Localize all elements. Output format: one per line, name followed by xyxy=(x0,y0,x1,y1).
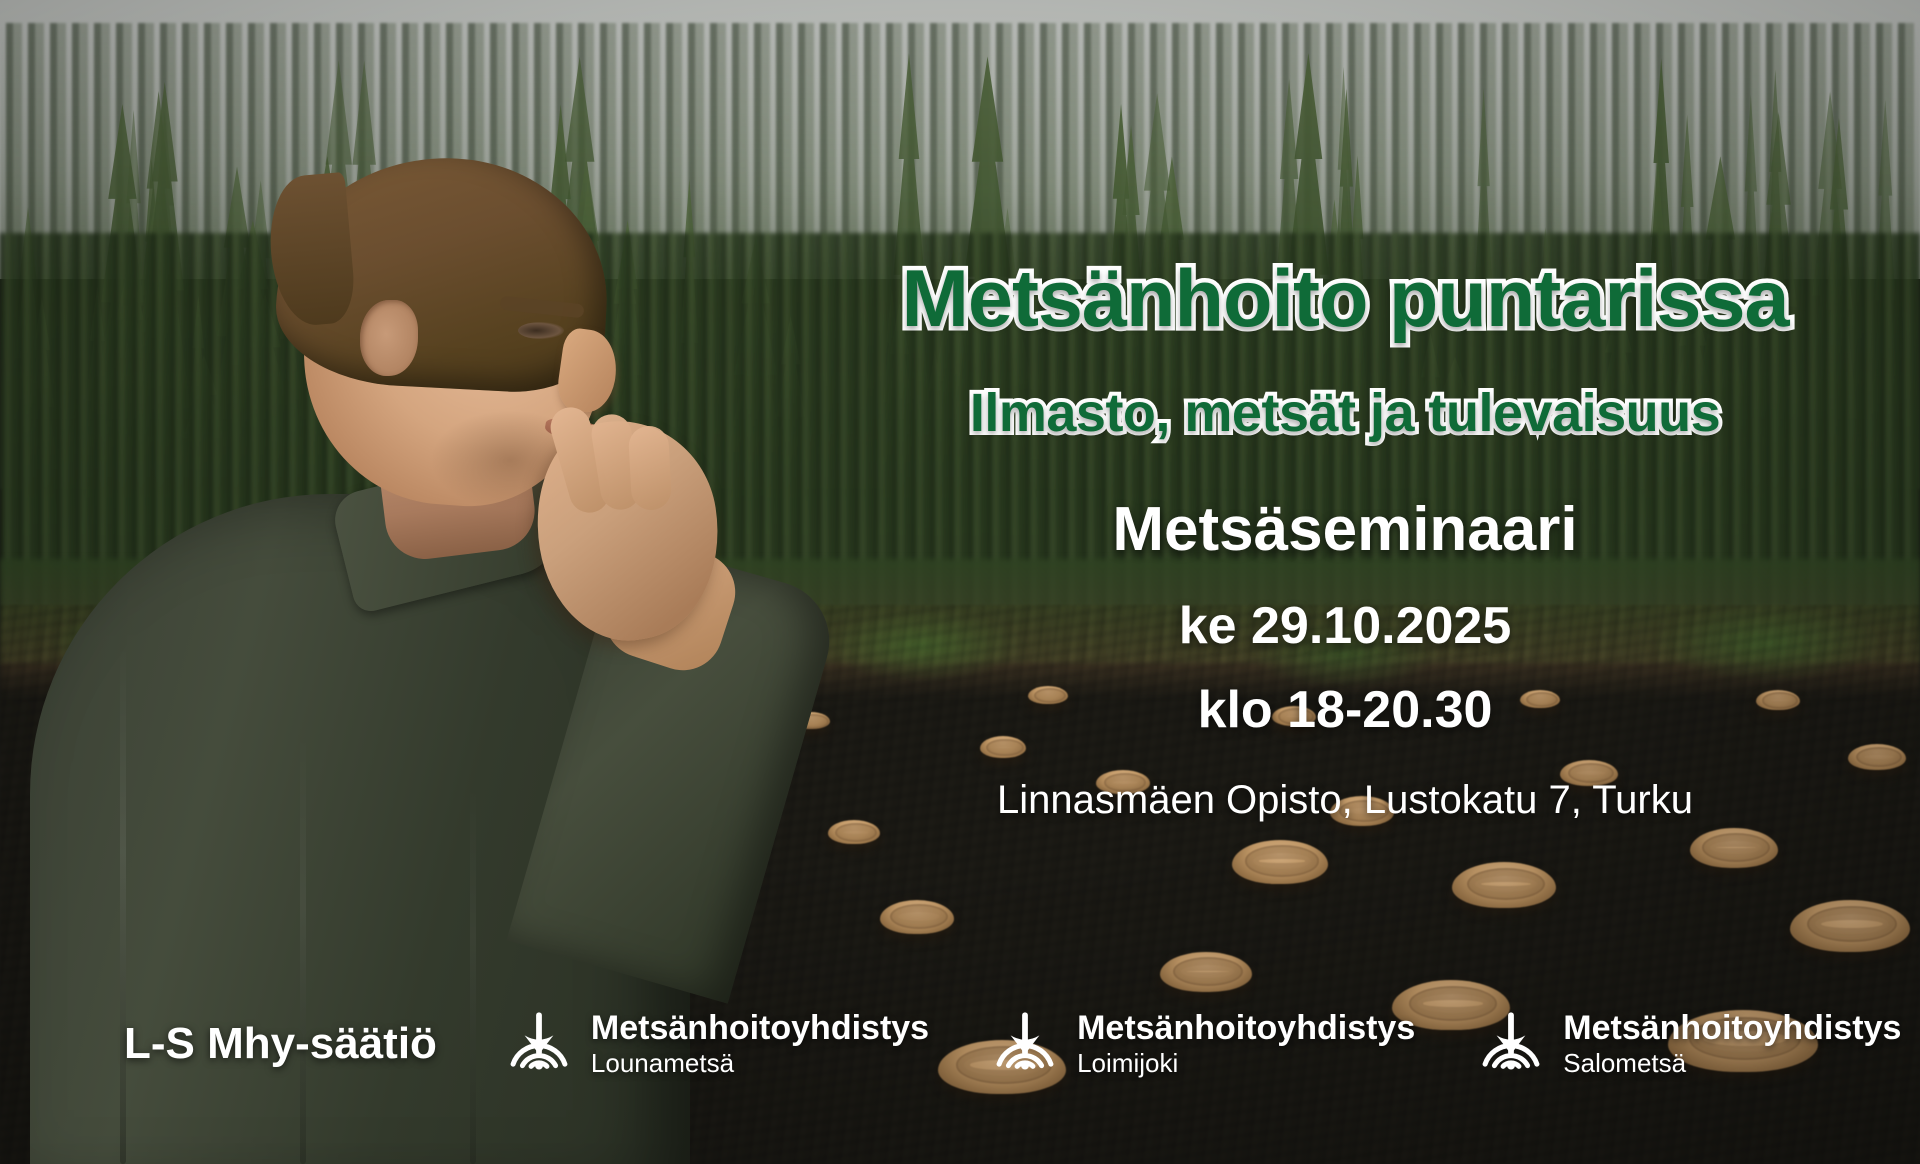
event-poster: Metsänhoito puntarissa Ilmasto, metsät j… xyxy=(0,0,1920,1164)
event-date: ke 29.10.2025 xyxy=(770,596,1920,656)
poster-headline: Metsänhoito puntarissa xyxy=(770,258,1920,341)
logo-lounametsa: Metsänhoitoyhdistys Lounametsä xyxy=(503,1008,929,1080)
poster-subheadline: Ilmasto, metsät ja tulevaisuus xyxy=(770,382,1920,444)
mhy-target-arrow-icon xyxy=(503,1008,575,1080)
mhy-target-arrow-icon xyxy=(989,1008,1061,1080)
event-time: klo 18-20.30 xyxy=(770,680,1920,740)
event-venue: Linnasmäen Opisto, Lustokatu 7, Turku xyxy=(770,778,1920,823)
footer-logo-bar: L-S Mhy-säätiö Metsänhoitoyhdistys Louna… xyxy=(0,984,1920,1164)
logo-salometsa: Metsänhoitoyhdistys Salometsä xyxy=(1475,1008,1901,1080)
foundation-name: L-S Mhy-säätiö xyxy=(124,1019,437,1069)
logo-org-name: Metsänhoitoyhdistys xyxy=(591,1011,929,1047)
logo-unit-name: Salometsä xyxy=(1563,1050,1901,1077)
person-ear xyxy=(360,300,418,376)
logo-unit-name: Loimijoki xyxy=(1077,1050,1415,1077)
person-eye xyxy=(518,322,564,339)
person-finger xyxy=(628,425,672,511)
logo-loimijoki: Metsänhoitoyhdistys Loimijoki xyxy=(989,1008,1415,1080)
person-nose xyxy=(555,327,622,416)
logo-unit-name: Lounametsä xyxy=(591,1050,929,1077)
event-name: Metsäseminaari xyxy=(770,494,1920,565)
logo-org-name: Metsänhoitoyhdistys xyxy=(1077,1011,1415,1047)
logo-org-name: Metsänhoitoyhdistys xyxy=(1563,1011,1901,1047)
mhy-target-arrow-icon xyxy=(1475,1008,1547,1080)
